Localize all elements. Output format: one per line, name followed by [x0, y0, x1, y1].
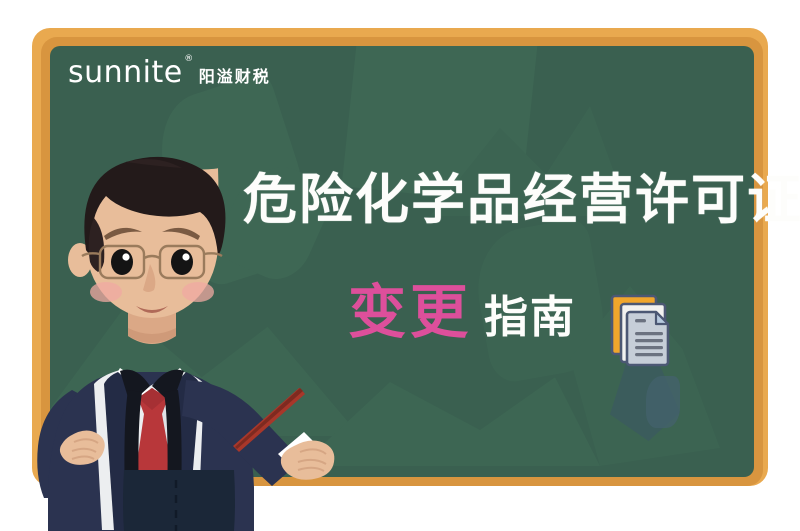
logo-chinese-name: 阳溢财税	[199, 69, 271, 88]
board-texture-shape	[646, 376, 680, 428]
logo-wordmark-text: sunnite	[68, 55, 183, 90]
brand-logo: sunnite ® 阳溢财税	[68, 58, 271, 88]
poster-canvas: sunnite ® 阳溢财税 危险化学品经营许可证 变更 指南	[0, 0, 800, 531]
subtitle-plain: 指南	[484, 296, 576, 340]
registered-trademark-icon: ®	[184, 55, 194, 64]
logo-wordmark: sunnite ®	[68, 58, 183, 88]
page-subtitle: 变更 指南	[348, 283, 576, 341]
document-stack-icon	[610, 292, 682, 372]
teacher-illustration	[0, 140, 380, 531]
